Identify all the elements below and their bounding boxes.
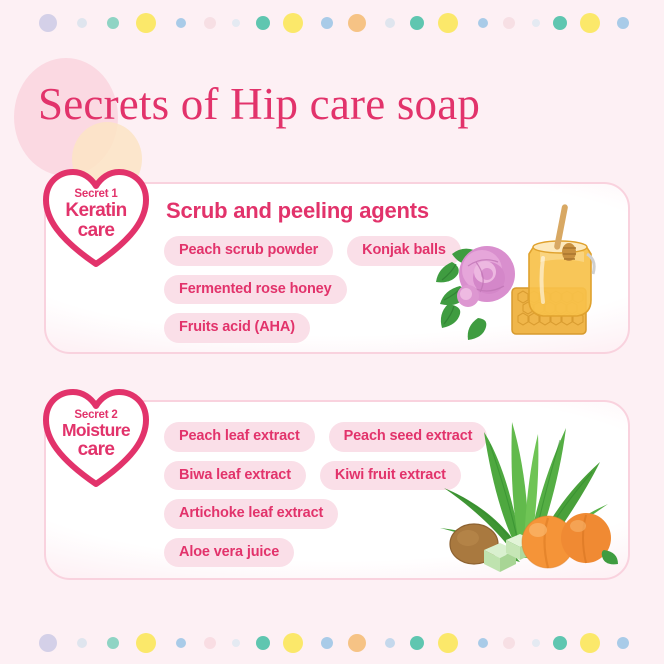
ingredient-pill: Fruits acid (AHA) — [164, 313, 310, 343]
decorative-dot — [283, 13, 303, 33]
heart-outline-icon — [40, 166, 152, 270]
decorative-dot-strip-top — [0, 8, 664, 38]
decorative-dot — [580, 633, 600, 653]
decorative-dot — [348, 634, 366, 652]
decorative-dot — [232, 639, 240, 647]
decorative-dot — [107, 17, 119, 29]
decorative-dot — [385, 18, 395, 28]
pill-row: Fermented rose honey — [164, 275, 461, 305]
decorative-dot — [232, 19, 240, 27]
ingredient-pill: Peach scrub powder — [164, 236, 333, 266]
decorative-dot — [39, 634, 57, 652]
aloe-vera-peach-kiwi-image — [428, 414, 618, 576]
pill-row: Peach scrub powder Konjak balls — [164, 236, 461, 266]
decorative-dot — [136, 633, 156, 653]
decorative-dot — [256, 16, 270, 30]
decorative-dot — [204, 637, 216, 649]
decorative-dot — [438, 13, 458, 33]
decorative-dot — [136, 13, 156, 33]
decorative-dot — [532, 19, 540, 27]
decorative-dot — [385, 638, 395, 648]
decorative-dot — [176, 638, 186, 648]
decorative-dot — [478, 638, 488, 648]
page-title: Secrets of Hip care soap — [38, 78, 480, 130]
decorative-dot — [107, 637, 119, 649]
decorative-dot — [256, 636, 270, 650]
ingredient-pill: Aloe vera juice — [164, 538, 294, 568]
decorative-dot — [321, 637, 333, 649]
decorative-dot — [77, 638, 87, 648]
decorative-dot — [503, 17, 515, 29]
decorative-dot — [580, 13, 600, 33]
ingredient-pill: Fermented rose honey — [164, 275, 347, 305]
decorative-dot — [478, 18, 488, 28]
decorative-dot — [553, 636, 567, 650]
decorative-dot — [176, 18, 186, 28]
decorative-dot — [77, 18, 87, 28]
decorative-dot — [321, 17, 333, 29]
decorative-dot — [503, 637, 515, 649]
ingredient-pill: Peach leaf extract — [164, 422, 315, 452]
honey-jar-rose-honeycomb-image — [434, 200, 614, 348]
decorative-dot-strip-bottom — [0, 628, 664, 658]
ingredient-pill: Artichoke leaf extract — [164, 499, 338, 529]
decorative-dot — [617, 17, 629, 29]
secret-badge-moisture: Secret 2 Moisture care — [40, 386, 152, 490]
infographic-page: Secrets of Hip care soap Scrub and peeli… — [0, 0, 664, 664]
card-heading: Scrub and peeling agents — [166, 198, 429, 224]
decorative-dot — [204, 17, 216, 29]
decorative-dot — [348, 14, 366, 32]
decorative-dot — [553, 16, 567, 30]
pill-row: Fruits acid (AHA) — [164, 313, 461, 343]
decorative-dot — [617, 637, 629, 649]
ingredient-pill: Biwa leaf extract — [164, 461, 306, 491]
decorative-dot — [410, 16, 424, 30]
ingredient-pill-group: Peach scrub powder Konjak balls Fermente… — [164, 236, 461, 352]
decorative-dot — [39, 14, 57, 32]
decorative-dot — [410, 636, 424, 650]
heart-outline-icon — [40, 386, 152, 490]
secret-badge-keratin: Secret 1 Keratin care — [40, 166, 152, 270]
decorative-dot — [283, 633, 303, 653]
decorative-dot — [438, 633, 458, 653]
decorative-dot — [532, 639, 540, 647]
